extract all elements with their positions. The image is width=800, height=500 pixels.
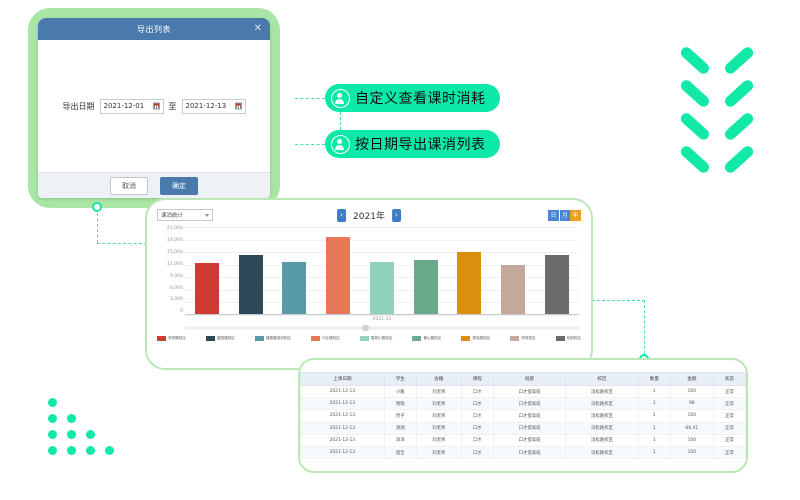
- y-tick-label: 9,000: [170, 275, 183, 280]
- legend-swatch: [360, 336, 369, 341]
- legend-item[interactable]: 盛园路校区: [206, 336, 235, 341]
- table-cell: 2021-12-13: [301, 410, 385, 422]
- table-cell: 100: [670, 386, 713, 398]
- table-cell: 晓晓: [384, 398, 416, 410]
- table-cell: 口才: [461, 410, 493, 422]
- table-cell: 口才: [461, 386, 493, 398]
- legend-label: 学府路校区: [168, 336, 186, 341]
- table-cell: 正常: [713, 446, 745, 458]
- table-column-header: 课程: [461, 373, 493, 386]
- calendar-icon[interactable]: [153, 103, 160, 110]
- chevron-down-icon: [686, 144, 748, 174]
- legend-swatch: [510, 336, 519, 341]
- table-cell: 刘老师: [416, 422, 461, 434]
- table-cell: 66.41: [670, 422, 713, 434]
- bar-series: [185, 226, 579, 314]
- records-table: 上课日期学生会籍课程班级校区数量金额状态 2021-12-13小雅刘老师口才口才…: [300, 372, 746, 459]
- table-cell: 口才: [461, 446, 493, 458]
- table-column-header: 数量: [638, 373, 670, 386]
- legend-label: 总部校区: [567, 336, 581, 341]
- chevron-left-icon[interactable]: ‹: [337, 209, 346, 222]
- table-cell: 100: [670, 434, 713, 446]
- table-cell: 小雅: [384, 386, 416, 398]
- table-cell: 口才提高班: [493, 422, 565, 434]
- legend-swatch: [412, 336, 421, 341]
- table-cell: 98: [670, 398, 713, 410]
- chart-filter-value: 课消统计: [161, 211, 183, 219]
- table-cell: 口才提高班: [493, 434, 565, 446]
- table-body: 2021-12-13小雅刘老师口才口才提高班滨松路校区1100正常2021-12…: [301, 386, 746, 459]
- legend-item[interactable]: 学府路校区: [157, 336, 186, 341]
- legend-item[interactable]: 秀佳路校区: [461, 336, 490, 341]
- table-cell: 100: [670, 446, 713, 458]
- table-cell: 口才: [461, 434, 493, 446]
- close-icon[interactable]: ✕: [254, 24, 262, 34]
- connector-line-callouts-join: [340, 112, 341, 130]
- table-cell: 刘老师: [416, 386, 461, 398]
- bar[interactable]: [195, 263, 219, 314]
- table-cell: 滨松路校区: [566, 422, 638, 434]
- table-header-row: 上课日期学生会籍课程班级校区数量金额状态: [301, 373, 746, 386]
- table-header: 上课日期学生会籍课程班级校区数量金额状态: [301, 373, 746, 386]
- table-cell: 滨松路校区: [566, 434, 638, 446]
- legend-label: 学府校区: [521, 336, 535, 341]
- table-row[interactable]: 2021-12-13俊哲刘老师口才口才提高班滨松路校区1100正常: [301, 446, 746, 458]
- legend-item[interactable]: 景山路校区: [412, 336, 441, 341]
- export-list-dialog: 导出列表 ✕ 导出日期 2021-12-01 至 2021-12-13 取消 确…: [38, 18, 270, 198]
- y-tick-label: 6,000: [170, 287, 183, 292]
- cancel-button[interactable]: 取消: [110, 177, 148, 195]
- table-cell: 刘老师: [416, 398, 461, 410]
- table-cell: 口才提高班: [493, 446, 565, 458]
- legend-swatch: [255, 336, 264, 341]
- legend-item[interactable]: 学府校区: [510, 336, 535, 341]
- x-axis-label: 2021-12: [185, 317, 579, 322]
- year-label: 2021年: [353, 209, 385, 222]
- plot-canvas: [185, 227, 579, 315]
- table-cell: 口才提高班: [493, 398, 565, 410]
- chevron-down-icon: [205, 214, 209, 217]
- legend-label: 建德路培训校区: [266, 336, 291, 341]
- chart-panel: 课消统计 ‹ 2021年 › 日 月 年 21,00018,00015,0001…: [145, 198, 593, 370]
- table-cell: 1: [638, 398, 670, 410]
- range-separator: 至: [169, 101, 177, 112]
- legend-swatch: [556, 336, 565, 341]
- connector-line-callout-2: [295, 144, 325, 145]
- chart-plot-area: 21,00018,00015,00012,0009,0006,0003,0000…: [157, 227, 581, 322]
- table-cell: 滨松路校区: [566, 446, 638, 458]
- table-cell: 2021-12-13: [301, 446, 385, 458]
- chart-toolbar: 课消统计 ‹ 2021年 › 日 月 年: [157, 208, 581, 222]
- connector-line-table-horizontal: [592, 300, 645, 301]
- connector-line-table-vertical: [644, 300, 645, 354]
- y-tick-label: 3,000: [170, 298, 183, 303]
- calendar-icon[interactable]: [235, 103, 242, 110]
- table-cell: 滨松路校区: [566, 410, 638, 422]
- table-column-header: 上课日期: [301, 373, 385, 386]
- chevron-down-icon: [686, 78, 748, 108]
- legend-item[interactable]: 建德路培训校区: [255, 336, 291, 341]
- legend-swatch: [157, 336, 166, 341]
- legend-label: 盛园路校区: [217, 336, 235, 341]
- bar[interactable]: [370, 262, 394, 314]
- table-cell: 然子: [384, 410, 416, 422]
- bar[interactable]: [501, 265, 525, 314]
- table-cell: 洋洋: [384, 434, 416, 446]
- year-navigator: ‹ 2021年 ›: [337, 209, 401, 222]
- bar[interactable]: [545, 255, 569, 314]
- connector-node-dialog: [92, 202, 102, 212]
- mode-button-day[interactable]: 日: [548, 210, 559, 221]
- date-from-input[interactable]: 2021-12-01: [100, 99, 164, 114]
- table-cell: 口才: [461, 422, 493, 434]
- user-profile-icon: [331, 89, 350, 108]
- legend-label: 秀佳路校区: [472, 336, 490, 341]
- y-tick-label: 18,000: [167, 239, 183, 244]
- mode-button-month[interactable]: 月: [559, 210, 570, 221]
- table-row[interactable]: 2021-12-13洋洋刘老师口才口才提高班滨松路校区1100正常: [301, 434, 746, 446]
- export-date-label: 导出日期: [63, 101, 95, 112]
- table-column-header: 学生: [384, 373, 416, 386]
- bar[interactable]: [239, 255, 263, 315]
- table-cell: 刘老师: [416, 434, 461, 446]
- bar[interactable]: [414, 260, 438, 314]
- table-column-header: 会籍: [416, 373, 461, 386]
- legend-label: 景山路校区: [423, 336, 441, 341]
- date-to-input[interactable]: 2021-12-13: [182, 99, 246, 114]
- export-date-field-row: 导出日期 2021-12-01 至 2021-12-13: [63, 99, 246, 114]
- table-cell: 2021-12-13: [301, 434, 385, 446]
- y-tick-label: 12,000: [167, 263, 183, 268]
- table-cell: 2021-12-13: [301, 386, 385, 398]
- callout-label: 自定义查看课时消耗: [355, 88, 486, 108]
- legend-swatch: [461, 336, 470, 341]
- table-cell: 口才: [461, 398, 493, 410]
- table-cell: 1: [638, 410, 670, 422]
- connector-line-callout-1: [295, 98, 325, 99]
- table-cell: 口才提高班: [493, 410, 565, 422]
- dialog-body: 导出日期 2021-12-01 至 2021-12-13: [38, 40, 270, 172]
- table-cell: 刘老师: [416, 446, 461, 458]
- table-cell: 口才提高班: [493, 386, 565, 398]
- table-cell: 正常: [713, 422, 745, 434]
- dialog-footer: 取消 确定: [38, 172, 270, 198]
- callout-label: 按日期导出课消列表: [355, 134, 486, 154]
- legend-swatch: [311, 336, 320, 341]
- user-profile-icon: [331, 135, 350, 154]
- chevron-down-icon: [686, 45, 748, 75]
- page-root: 导出列表 ✕ 导出日期 2021-12-01 至 2021-12-13 取消 确…: [0, 0, 800, 500]
- table-column-header: 校区: [566, 373, 638, 386]
- chart-filter-select[interactable]: 课消统计: [157, 209, 213, 221]
- scrollbar-thumb[interactable]: [362, 325, 369, 331]
- table-cell: 正常: [713, 386, 745, 398]
- bar[interactable]: [326, 237, 350, 314]
- y-axis-ticks: 21,00018,00015,00012,0009,0006,0003,0000: [157, 227, 183, 315]
- bar[interactable]: [282, 262, 306, 314]
- table-cell: 正常: [713, 410, 745, 422]
- table-row[interactable]: 2021-12-13清涵刘老师口才口才提高班滨松路校区166.41正常: [301, 422, 746, 434]
- legend-label: 兴业路校区: [322, 336, 340, 341]
- table-column-header: 状态: [713, 373, 745, 386]
- legend-item[interactable]: 总部校区: [556, 336, 581, 341]
- dialog-title: 导出列表: [137, 24, 171, 35]
- table-cell: 滨松路校区: [566, 398, 638, 410]
- table-column-header: 金额: [670, 373, 713, 386]
- chevron-down-icon: [686, 111, 748, 141]
- bar[interactable]: [457, 252, 481, 314]
- chart-scrollbar[interactable]: [185, 326, 579, 330]
- table-cell: 100: [670, 410, 713, 422]
- table-row[interactable]: 2021-12-13小雅刘老师口才口才提高班滨松路校区1100正常: [301, 386, 746, 398]
- legend-item[interactable]: 嘉苑小路校区: [360, 336, 393, 341]
- legend-label: 嘉苑小路校区: [371, 336, 393, 341]
- y-tick-label: 21,000: [167, 227, 183, 232]
- table-cell: 2021-12-13: [301, 398, 385, 410]
- table-cell: 俊哲: [384, 446, 416, 458]
- callout-pill-2: 按日期导出课消列表: [325, 130, 500, 158]
- dialog-titlebar: 导出列表 ✕: [38, 18, 270, 40]
- records-table-panel: 上课日期学生会籍课程班级校区数量金额状态 2021-12-13小雅刘老师口才口才…: [298, 358, 748, 473]
- chevron-right-icon[interactable]: ›: [392, 209, 401, 222]
- table-column-header: 班级: [493, 373, 565, 386]
- table-cell: 1: [638, 446, 670, 458]
- chart-legend: 学府路校区盛园路校区建德路培训校区兴业路校区嘉苑小路校区景山路校区秀佳路校区学府…: [157, 336, 581, 341]
- table-cell: 1: [638, 386, 670, 398]
- date-to-value: 2021-12-13: [186, 102, 227, 110]
- table-cell: 清涵: [384, 422, 416, 434]
- table-row[interactable]: 2021-12-13然子刘老师口才口才提高班滨松路校区1100正常: [301, 410, 746, 422]
- decorative-dot-grid: [48, 398, 118, 458]
- table-cell: 1: [638, 422, 670, 434]
- date-from-value: 2021-12-01: [104, 102, 145, 110]
- mode-button-year[interactable]: 年: [570, 210, 581, 221]
- callout-pill-1: 自定义查看课时消耗: [325, 84, 500, 112]
- legend-swatch: [206, 336, 215, 341]
- connector-line-dialog-horizontal: [97, 243, 147, 244]
- connector-line-dialog-vertical: [97, 213, 98, 243]
- table-cell: 滨松路校区: [566, 386, 638, 398]
- view-mode-switch: 日 月 年: [548, 210, 581, 221]
- y-tick-label: 0: [180, 310, 183, 315]
- legend-item[interactable]: 兴业路校区: [311, 336, 340, 341]
- table-cell: 2021-12-13: [301, 422, 385, 434]
- confirm-button[interactable]: 确定: [160, 177, 198, 195]
- table-cell: 1: [638, 434, 670, 446]
- y-tick-label: 15,000: [167, 251, 183, 256]
- table-cell: 刘老师: [416, 410, 461, 422]
- table-cell: 正常: [713, 434, 745, 446]
- gridline: [185, 315, 579, 316]
- table-cell: 正常: [713, 398, 745, 410]
- table-row[interactable]: 2021-12-13晓晓刘老师口才口才提高班滨松路校区198正常: [301, 398, 746, 410]
